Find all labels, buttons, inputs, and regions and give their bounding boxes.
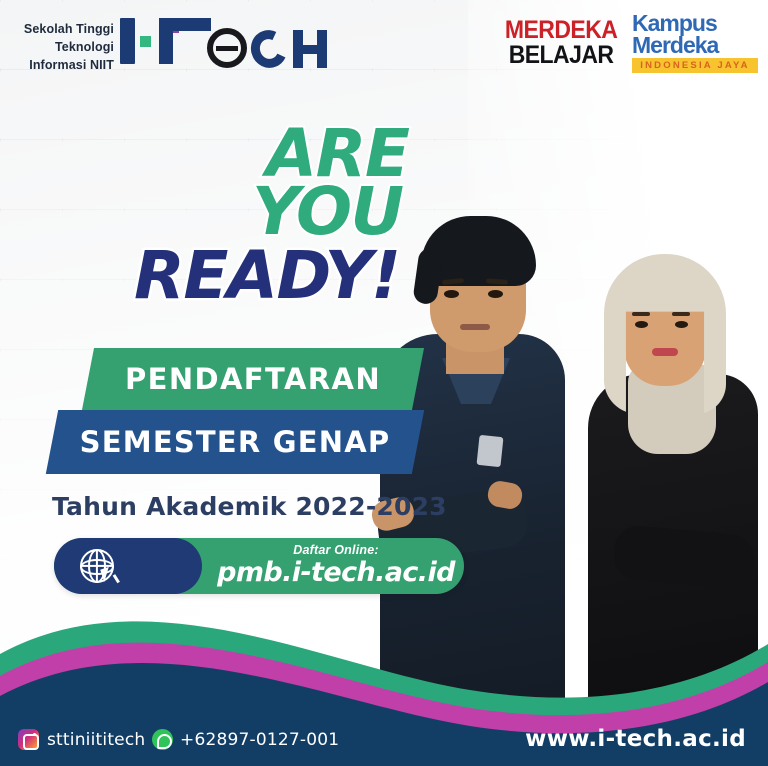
merdeka-belajar-line-2: BELAJAR <box>505 43 617 68</box>
male-eye-right <box>488 290 503 298</box>
registration-url-pill[interactable]: Daftar Online: pmb.i-tech.ac.id <box>54 538 464 594</box>
logo-letter-e <box>207 28 247 68</box>
instagram-handle: sttiniititech <box>47 730 145 750</box>
female-eye-left <box>635 321 648 328</box>
kampus-merdeka-tagline: INDONESIA JAYA <box>632 58 758 73</box>
semester-genap-label: SEMESTER GENAP <box>52 410 418 474</box>
whatsapp-icon <box>152 729 173 750</box>
pill-icon-panel <box>54 538 202 594</box>
institution-line-2: Teknologi <box>10 38 114 56</box>
female-lips <box>652 348 678 356</box>
i-tech-logo <box>120 14 327 68</box>
daftar-online-label: Daftar Online: <box>212 542 460 558</box>
logo-letter-h-bar <box>299 45 323 54</box>
logo-letter-i <box>120 18 135 64</box>
headline-you: YOU <box>252 184 403 241</box>
academic-year-label: Tahun Akademik 2022-2023 <box>52 492 447 521</box>
semester-genap-ribbon: SEMESTER GENAP <box>46 410 424 474</box>
kampus-merdeka-logo: Kampus Merdeka INDONESIA JAYA <box>632 12 758 73</box>
pendaftaran-label: PENDAFTARAN <box>88 348 418 410</box>
logo-green-dot-icon <box>140 36 151 47</box>
kampus-merdeka-line-2: Merdeka <box>632 34 758 56</box>
whatsapp-number: +62897-0127-001 <box>180 730 339 750</box>
poster-footer: sttiniititech +62897-0127-001 www.i-tech… <box>0 700 768 766</box>
female-brow-left <box>632 312 650 316</box>
institution-name: Sekolah Tinggi Teknologi Informasi NIIT <box>10 20 114 74</box>
female-brow-right <box>672 312 690 316</box>
logo-letter-t <box>159 18 211 64</box>
registration-url[interactable]: pmb.i-tech.ac.id <box>212 558 460 587</box>
poster-root: Sekolah Tinggi Teknologi Informasi NIIT … <box>0 0 768 766</box>
jacket-badge <box>476 435 503 467</box>
poster-header: Sekolah Tinggi Teknologi Informasi NIIT … <box>0 0 768 96</box>
merdeka-belajar-logo: MERDEKA BELAJAR <box>500 18 622 67</box>
male-mouth <box>460 324 490 330</box>
male-eye-left <box>444 290 459 298</box>
headline-ready: READY! <box>134 248 400 305</box>
institution-line-3: Informasi NIIT <box>10 56 114 74</box>
institution-line-1: Sekolah Tinggi <box>10 20 114 38</box>
pendaftaran-ribbon: PENDAFTARAN <box>82 348 424 410</box>
instagram-icon <box>18 729 39 750</box>
logo-letter-h <box>293 30 327 68</box>
blazer-emblem <box>680 486 710 508</box>
instagram-contact[interactable]: sttiniititech <box>18 729 145 750</box>
pill-text-block: Daftar Online: pmb.i-tech.ac.id <box>212 542 460 587</box>
female-eye-right <box>675 321 688 328</box>
website-url[interactable]: www.i-tech.ac.id <box>525 726 746 752</box>
merdeka-belajar-line-1: MERDEKA <box>505 18 617 43</box>
logo-letter-c <box>246 25 293 73</box>
kampus-merdeka-line-1: Kampus <box>632 12 758 34</box>
whatsapp-contact[interactable]: +62897-0127-001 <box>152 729 339 750</box>
